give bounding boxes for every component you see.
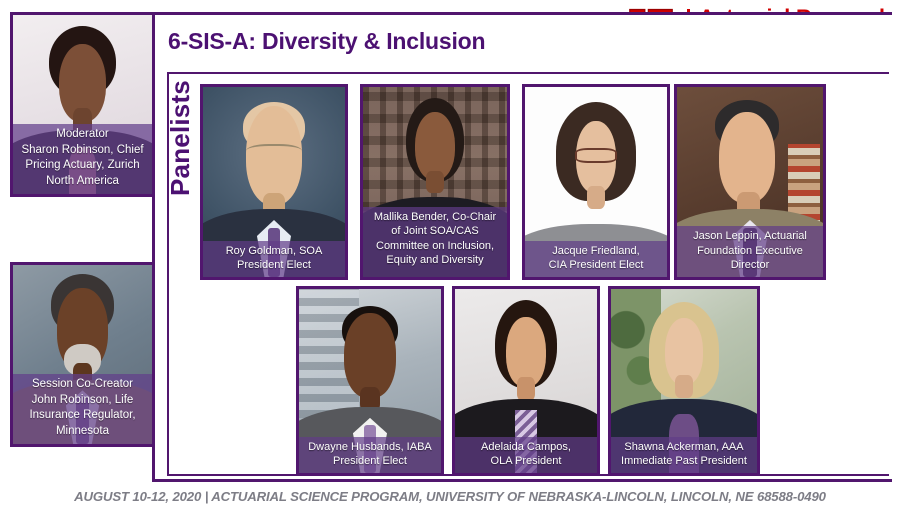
panelist-caption-jacque-friedland: Jacque Friedland, CIA President Elect [525, 241, 667, 277]
panelist-card-jacque-friedland[interactable]: Jacque Friedland, CIA President Elect [522, 84, 670, 280]
panelist-6-line-1: Immediate Past President [614, 454, 754, 469]
panelist-5-line-0: Adelaida Campos, [458, 440, 594, 455]
panelist-5-line-1: OLA President [458, 454, 594, 469]
panelist-3-line-1: Foundation Executive [680, 244, 820, 259]
panelist-caption-roy-goldman: Roy Goldman, SOA President Elect [203, 241, 345, 277]
moderator-caption-line-3: North America [15, 174, 150, 189]
cocreator-caption-line-0: Session Co-Creator [15, 377, 150, 392]
panelist-6-line-0: Shawna Ackerman, AAA [614, 440, 754, 455]
panelist-card-shawna-ackerman[interactable]: Shawna Ackerman, AAA Immediate Past Pres… [608, 286, 760, 476]
panelist-1-line-1: of Joint SOA/CAS [366, 224, 504, 239]
slide-title: 6-SIS-A: Diversity & Inclusion [168, 28, 568, 55]
slide-footer: AUGUST 10-12, 2020 | ACTUARIAL SCIENCE P… [0, 489, 900, 504]
panelist-3-line-0: Jason Leppin, Actuarial [680, 229, 820, 244]
cocreator-caption-line-3: Minnesota [15, 424, 150, 439]
panelist-3-line-2: Director [680, 258, 820, 273]
moderator-card[interactable]: Moderator Sharon Robinson, Chief Pricing… [10, 12, 155, 197]
moderator-caption-line-0: Moderator [15, 127, 150, 142]
panelist-caption-dwayne-husbands: Dwayne Husbands, IABA President Elect [299, 437, 441, 473]
panelist-card-roy-goldman[interactable]: Roy Goldman, SOA President Elect [200, 84, 348, 280]
moderator-caption-line-2: Pricing Actuary, Zurich [15, 158, 150, 173]
panelist-0-line-1: President Elect [206, 258, 342, 273]
panelist-4-line-1: President Elect [302, 454, 438, 469]
panelist-card-jason-leppin[interactable]: Jason Leppin, Actuarial Foundation Execu… [674, 84, 826, 280]
panelists-section-label: Panelists [165, 80, 196, 196]
cocreator-caption-line-2: Insurance Regulator, [15, 408, 150, 423]
moderator-caption: Moderator Sharon Robinson, Chief Pricing… [13, 124, 152, 194]
panelist-caption-mallika-bender: Mallika Bender, Co-Chair of Joint SOA/CA… [363, 207, 507, 277]
panelist-1-line-3: Equity and Diversity [366, 253, 504, 268]
panelist-2-line-1: CIA President Elect [528, 258, 664, 273]
cocreator-caption-line-1: John Robinson, Life [15, 393, 150, 408]
panelist-card-mallika-bender[interactable]: Mallika Bender, Co-Chair of Joint SOA/CA… [360, 84, 510, 280]
presentation-slide: Actuarial Research Virtual Conference 6-… [0, 0, 900, 510]
panelist-1-line-2: Committee on Inclusion, [366, 239, 504, 254]
panelist-1-line-0: Mallika Bender, Co-Chair [366, 210, 504, 225]
panelist-0-line-0: Roy Goldman, SOA [206, 244, 342, 259]
moderator-caption-line-1: Sharon Robinson, Chief [15, 143, 150, 158]
panelist-caption-shawna-ackerman: Shawna Ackerman, AAA Immediate Past Pres… [611, 437, 757, 473]
panelist-caption-jason-leppin: Jason Leppin, Actuarial Foundation Execu… [677, 226, 823, 277]
session-cocreator-caption: Session Co-Creator John Robinson, Life I… [13, 374, 152, 444]
session-cocreator-card[interactable]: Session Co-Creator John Robinson, Life I… [10, 262, 155, 447]
panelist-card-adelaida-campos[interactable]: Adelaida Campos, OLA President [452, 286, 600, 476]
panelist-4-line-0: Dwayne Husbands, IABA [302, 440, 438, 455]
panelist-2-line-0: Jacque Friedland, [528, 244, 664, 259]
panelist-card-dwayne-husbands[interactable]: Dwayne Husbands, IABA President Elect [296, 286, 444, 476]
panelist-caption-adelaida-campos: Adelaida Campos, OLA President [455, 437, 597, 473]
